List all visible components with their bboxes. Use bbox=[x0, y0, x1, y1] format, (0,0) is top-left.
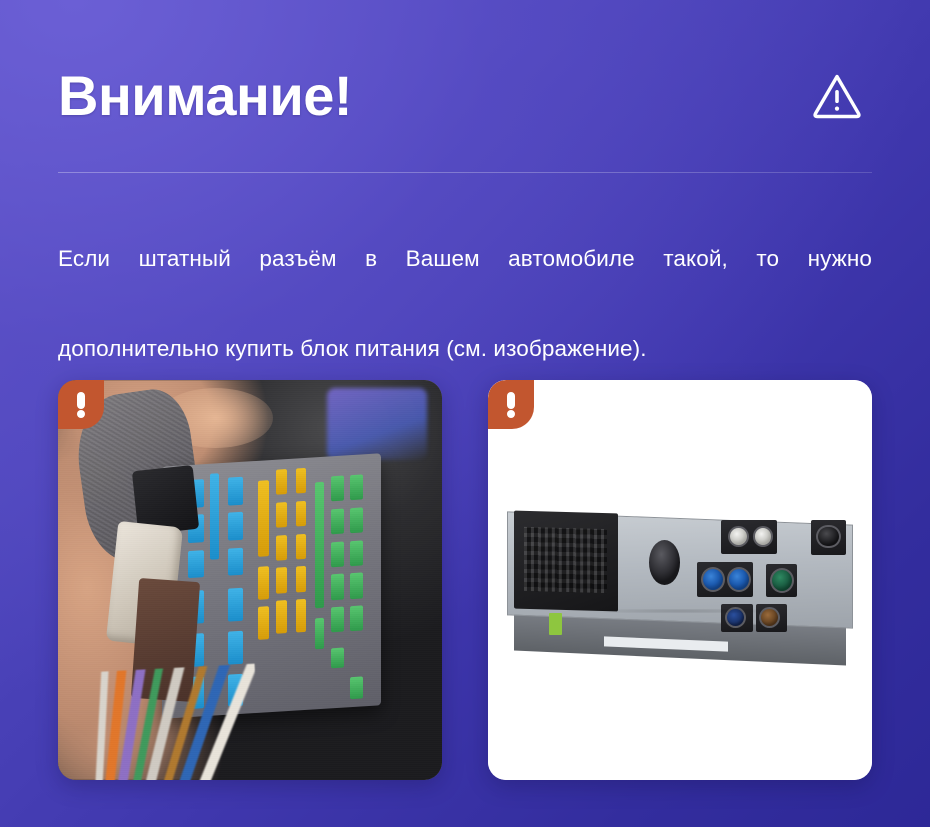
module-green-tab bbox=[549, 613, 563, 635]
coax-blue-2 bbox=[727, 567, 751, 592]
attention-badge-right bbox=[488, 380, 534, 429]
car-connector-photo bbox=[58, 380, 442, 780]
card-car-connector[interactable] bbox=[58, 380, 442, 780]
coax-green bbox=[770, 568, 794, 593]
module-drop-shadow bbox=[542, 609, 818, 613]
warning-notice-page: Внимание! Если штатный разъём в Вашем ав… bbox=[0, 0, 930, 827]
notice-text: Если штатный разъём в Вашем автомобиле т… bbox=[58, 236, 872, 371]
coax-black bbox=[816, 525, 840, 549]
power-supply-module bbox=[507, 512, 853, 652]
notice-text-line-2: дополнительно купить блок питания (см. и… bbox=[58, 326, 872, 371]
wire-harness bbox=[85, 664, 260, 780]
module-knob bbox=[649, 540, 680, 585]
power-supply-photo bbox=[488, 380, 872, 780]
warning-triangle-icon bbox=[810, 69, 864, 123]
photo-background-blur bbox=[327, 388, 427, 460]
coax-blue-1 bbox=[701, 567, 725, 592]
module-connector-block bbox=[514, 511, 618, 612]
exclamation-icon bbox=[507, 392, 515, 418]
header-divider bbox=[58, 172, 872, 173]
coax-white-1 bbox=[728, 526, 749, 547]
card-power-supply[interactable] bbox=[488, 380, 872, 780]
page-title: Внимание! bbox=[58, 67, 352, 126]
coax-white-2 bbox=[753, 526, 774, 547]
attention-badge-left bbox=[58, 380, 104, 429]
header: Внимание! bbox=[58, 52, 872, 140]
image-card-row bbox=[58, 380, 872, 780]
exclamation-icon bbox=[77, 392, 85, 418]
notice-text-line-1: Если штатный разъём в Вашем автомобиле т… bbox=[58, 236, 872, 326]
